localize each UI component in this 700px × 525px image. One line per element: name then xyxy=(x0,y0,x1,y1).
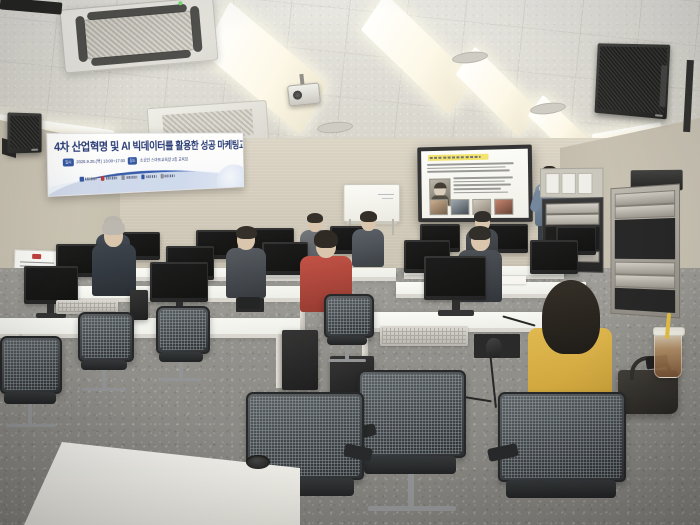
monitor xyxy=(150,262,208,302)
logo-mark-icon xyxy=(101,176,105,180)
monitor-base xyxy=(438,310,474,316)
office-chair[interactable] xyxy=(498,392,628,525)
slide-text-line xyxy=(453,180,505,182)
attendee-hair xyxy=(314,230,338,248)
speaker-grille xyxy=(597,46,667,114)
rack-unit xyxy=(546,214,600,226)
equipment-shelf xyxy=(540,168,603,199)
chair-post xyxy=(28,404,32,426)
speaker-side-panel xyxy=(659,65,667,107)
sign-logo xyxy=(32,254,41,259)
attendee-hair xyxy=(542,280,600,354)
monitor-screen xyxy=(532,242,577,271)
chair-seat xyxy=(159,352,203,362)
attendee-torso xyxy=(352,229,384,267)
monitor xyxy=(530,240,578,274)
attendee-torso xyxy=(226,248,266,298)
projection-screen xyxy=(417,144,533,222)
speaker-badge xyxy=(655,114,663,117)
slide-bullet-block xyxy=(453,176,519,195)
portrait-hair xyxy=(434,182,447,188)
office-chair[interactable] xyxy=(156,306,210,386)
slide-text-line xyxy=(453,188,501,190)
keyboard[interactable] xyxy=(380,326,468,346)
attendee-hair xyxy=(102,220,125,235)
speaker-grille xyxy=(10,116,39,149)
slide-text-line xyxy=(427,166,506,169)
chair-backrest xyxy=(156,306,210,354)
slide-text-line xyxy=(454,191,509,193)
chair-post xyxy=(102,370,106,390)
chair-mesh xyxy=(160,310,206,350)
projector-lens xyxy=(293,90,303,100)
logo-wordmark xyxy=(146,175,156,178)
speaker-badge xyxy=(31,149,38,151)
handout-papers xyxy=(500,276,526,284)
keyboard-keys xyxy=(382,328,466,344)
banner-date-text: 2025.9.25.(목) 13:00~17:00 xyxy=(76,158,125,165)
desk xyxy=(0,318,300,334)
chair-backrest xyxy=(498,392,626,482)
monitor-screen xyxy=(426,258,485,297)
chair-seat xyxy=(327,336,367,345)
slide-thumbnail xyxy=(429,199,448,215)
classroom-photo: 4차 산업혁명 및 AI 빅데이터를 활용한 성공 마케팅교육 일시 2025.… xyxy=(0,0,700,525)
chair-post xyxy=(408,474,414,508)
attendee xyxy=(352,212,384,264)
slide-text-line xyxy=(427,170,510,173)
whiteboard-marking xyxy=(382,198,393,199)
keyboard-keys xyxy=(58,302,116,312)
sponsor-logo xyxy=(101,176,117,181)
chair-seat xyxy=(4,392,56,404)
sponsor-logo xyxy=(80,176,97,181)
banner-details: 일시 2025.9.25.(목) 13:00~17:00 장소 소공인 스마트교… xyxy=(63,156,188,167)
sponsor-logo xyxy=(160,173,175,178)
chair-base xyxy=(368,506,456,511)
shelf-box xyxy=(561,173,575,194)
shelf-box xyxy=(546,173,560,194)
monitor-screen xyxy=(26,268,77,301)
monitor xyxy=(424,256,486,300)
chair-mesh xyxy=(328,298,370,334)
chair-seat xyxy=(81,360,127,370)
logo-wordmark xyxy=(126,176,137,179)
monitor-screen xyxy=(152,264,207,299)
slide-text-line xyxy=(453,176,513,178)
banner-venue-text: 소공인 스마트교육장 2층 교육장 xyxy=(140,157,188,164)
slide-text-line xyxy=(427,162,514,165)
chair-mesh xyxy=(502,396,622,478)
banner-venue-chip: 장소 xyxy=(127,157,137,165)
rack-blank-panel xyxy=(615,288,675,313)
attendee-hair xyxy=(307,213,323,223)
attendee-torso xyxy=(92,244,136,296)
office-chair[interactable] xyxy=(324,294,374,368)
attendee-hair xyxy=(469,226,491,240)
logo-wordmark xyxy=(165,174,175,177)
cable-grommet xyxy=(246,455,270,469)
chair-seat xyxy=(506,480,616,498)
chair-base xyxy=(82,388,126,391)
tablet-device xyxy=(238,297,260,309)
logo-mark-icon xyxy=(141,175,145,179)
chair-mesh xyxy=(362,374,462,454)
drink-cup xyxy=(654,330,682,378)
chair-base xyxy=(6,424,56,427)
slide-content xyxy=(421,149,529,219)
chair-backrest xyxy=(0,336,62,394)
wall-speaker-right-icon xyxy=(595,43,671,119)
event-banner: 4차 산업혁명 및 AI 빅데이터를 활용한 성공 마케팅교육 일시 2025.… xyxy=(46,133,244,197)
whiteboard-leg xyxy=(392,219,394,235)
attendee-hair xyxy=(360,211,377,222)
chair-backrest xyxy=(78,312,134,362)
chair-base xyxy=(328,359,366,362)
logo-mark-icon xyxy=(121,175,125,179)
attendee xyxy=(226,226,266,296)
office-chair[interactable] xyxy=(0,336,62,432)
sponsor-logo xyxy=(121,175,137,180)
slide-bullet-block xyxy=(427,162,518,175)
logo-mark-icon xyxy=(160,174,164,178)
pc-tower xyxy=(282,330,318,390)
chair-mesh xyxy=(4,340,58,390)
rack-unit xyxy=(615,203,675,219)
attendee-hair xyxy=(236,226,257,239)
projector-icon xyxy=(287,82,321,106)
attendee-hair xyxy=(474,211,491,222)
chair-backrest xyxy=(358,370,466,458)
logo-wordmark xyxy=(106,176,117,179)
banner-headline: 4차 산업혁명 및 AI 빅데이터를 활용한 성공 마케팅교육 xyxy=(54,138,241,155)
chair-mesh xyxy=(82,316,130,358)
slide-text-line xyxy=(453,184,511,186)
wall-speaker-left-icon xyxy=(7,112,41,153)
sign-text-line xyxy=(20,261,54,264)
chair-backrest xyxy=(324,294,374,338)
logo-mark-icon xyxy=(80,177,84,182)
logo-wordmark xyxy=(85,177,97,180)
chair-base xyxy=(160,378,202,381)
whiteboard-marking xyxy=(378,194,394,195)
rack-blank-panel xyxy=(615,218,675,259)
shelf-box xyxy=(578,173,593,194)
rack-unit xyxy=(546,202,600,214)
server-rack xyxy=(611,184,681,319)
office-chair[interactable] xyxy=(78,312,134,396)
attendee xyxy=(92,220,136,294)
chair-seat xyxy=(364,456,456,474)
monitor xyxy=(24,266,78,304)
office-chair[interactable] xyxy=(358,370,468,520)
rack-unit xyxy=(615,274,675,289)
banner-date-chip: 일시 xyxy=(63,158,74,166)
sponsor-logo xyxy=(141,174,156,179)
